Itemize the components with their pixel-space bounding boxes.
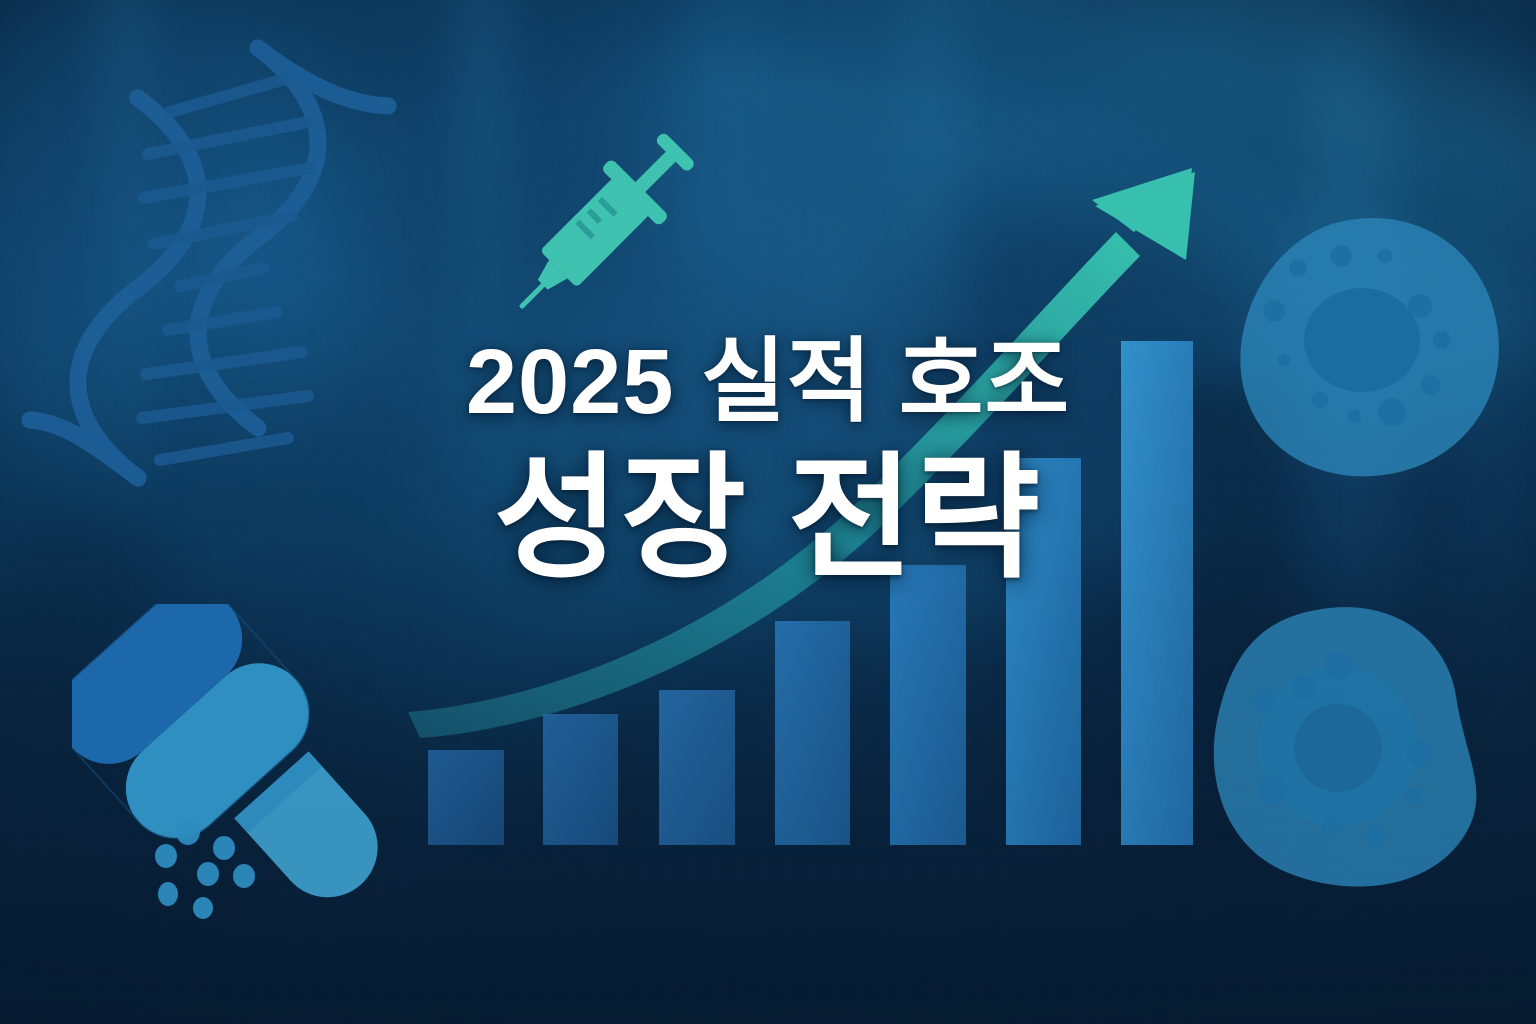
capsule-pill-icon xyxy=(72,604,402,922)
headline-line-2: 성장 전략 xyxy=(0,450,1536,586)
poster-canvas: 2025 실적 호조 성장 전략 xyxy=(0,0,1536,1024)
bar-1 xyxy=(428,750,504,845)
poster-headline: 2025 실적 호조 성장 전략 xyxy=(0,336,1536,586)
cell-nucleus-icon xyxy=(1198,598,1504,894)
headline-line-1: 2025 실적 호조 xyxy=(0,336,1536,428)
syringe-icon xyxy=(482,112,718,340)
